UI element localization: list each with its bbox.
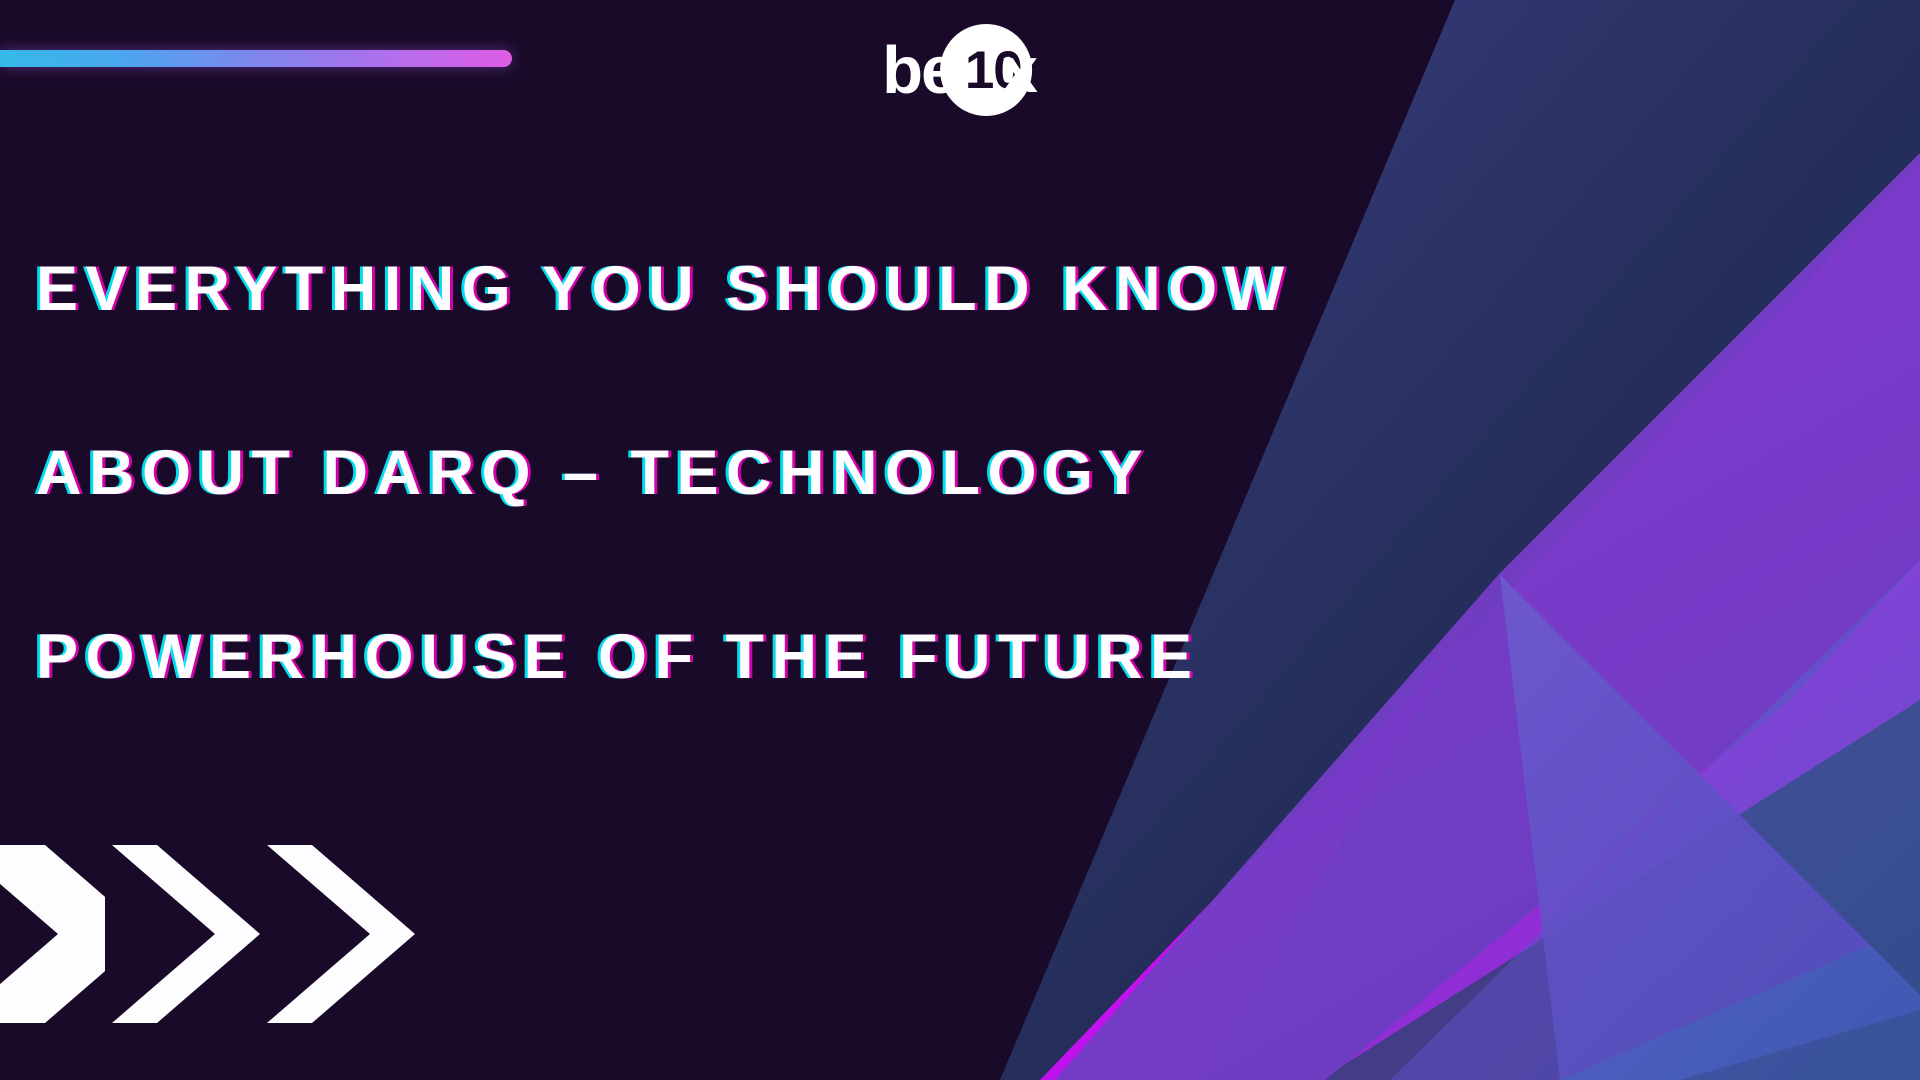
- logo-wordmark-prefix: be: [882, 37, 956, 104]
- slate-corner-overlay-shape: [1680, 455, 1920, 1080]
- be10x-logo: be 10 x: [882, 24, 1038, 116]
- gradient-accent-bar: [0, 50, 512, 67]
- chevron-right-icon-3: [267, 845, 415, 1023]
- page-title: EVERYTHING YOU SHOULD KNOW ABOUT DARQ – …: [36, 258, 1456, 689]
- chevron-right-icon-1: [0, 845, 105, 1023]
- logo-wordmark-suffix: x: [1002, 38, 1038, 102]
- headline-line-2: ABOUT DARQ – TECHNOLOGY: [36, 442, 1456, 505]
- headline-line-3: POWERHOUSE OF THE FUTURE: [36, 626, 1456, 689]
- chevron-right-icon-2: [112, 845, 260, 1023]
- left-chevron-lower-arm: [1500, 575, 1920, 1080]
- triple-chevron-right-icon-group: [0, 845, 415, 1023]
- headline-line-1: EVERYTHING YOU SHOULD KNOW: [36, 258, 1456, 321]
- indigo-overlay-shape: [1390, 560, 1920, 1080]
